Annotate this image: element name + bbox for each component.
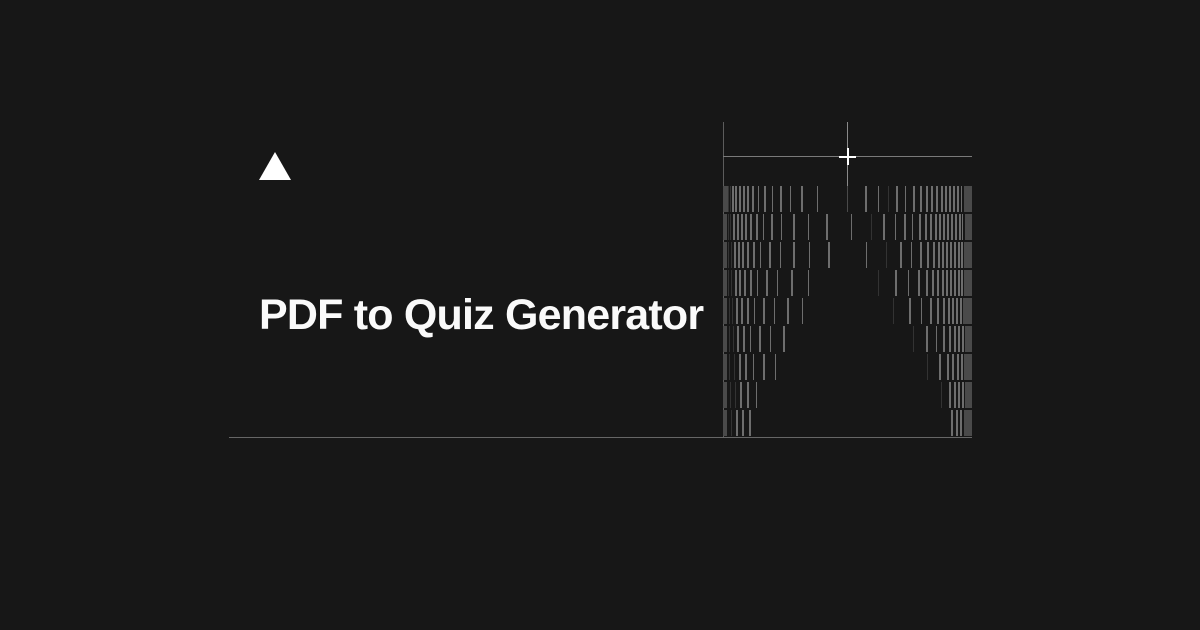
bar-segment [780, 242, 781, 268]
bar-segment [878, 270, 879, 296]
bar-segment [781, 214, 782, 240]
bar-segment [937, 270, 939, 296]
bar-segment [913, 186, 915, 212]
bar-segment [733, 214, 735, 240]
bar-segment [909, 298, 911, 324]
bar-segment [743, 186, 745, 212]
bar-segment [958, 270, 960, 296]
bar-segment [925, 214, 927, 240]
bar-segment [965, 326, 972, 352]
bar-segment [737, 214, 739, 240]
bar-segment [956, 298, 958, 324]
bar-segment [927, 354, 928, 380]
bar-segment [871, 214, 872, 240]
bar-segment [747, 298, 749, 324]
bar-segment [926, 270, 928, 296]
bar-segment [739, 186, 741, 212]
bar-segment [731, 270, 732, 296]
bar-row-stack [723, 186, 972, 437]
bar-segment [957, 354, 959, 380]
bar-segment [866, 242, 867, 268]
bar-segment [963, 298, 972, 324]
bar-segment [728, 270, 729, 296]
bar-segment [723, 214, 727, 240]
bar-segment [732, 186, 734, 212]
bar-segment [958, 326, 960, 352]
bar-segment [735, 270, 737, 296]
bar-row [723, 354, 972, 380]
bar-segment [774, 298, 775, 324]
bar-segment [730, 382, 731, 408]
bar-segment [957, 186, 959, 212]
bar-row [723, 214, 972, 240]
bar-segment [741, 214, 743, 240]
bar-segment [772, 186, 773, 212]
bar-segment [729, 298, 730, 324]
bar-segment [771, 214, 773, 240]
bar-segment [801, 186, 803, 212]
bar-segment [802, 298, 803, 324]
bar-segment [741, 298, 743, 324]
bar-segment [939, 354, 941, 380]
bar-segment [961, 242, 963, 268]
bar-segment [911, 242, 912, 268]
bar-segment [954, 270, 956, 296]
bar-segment [939, 214, 941, 240]
bar-segment [753, 354, 754, 380]
bar-segment [750, 270, 752, 296]
bar-segment [808, 214, 809, 240]
bar-segment [754, 298, 755, 324]
bar-segment [723, 242, 727, 268]
bar-segment [851, 214, 852, 240]
bar-segment [954, 242, 956, 268]
bar-segment [938, 242, 940, 268]
bar-segment [760, 242, 761, 268]
bar-segment [723, 354, 727, 380]
bar-segment [954, 326, 956, 352]
bar-segment [723, 382, 727, 408]
bar-segment [732, 298, 733, 324]
bar-segment [728, 186, 729, 212]
bar-segment [952, 298, 954, 324]
bar-segment [913, 326, 914, 352]
vercel-triangle-logo-icon [259, 152, 291, 180]
bar-segment [942, 270, 944, 296]
bar-segment [769, 242, 771, 268]
bar-segment [759, 326, 761, 352]
bar-segment [919, 214, 921, 240]
bar-segment [920, 186, 922, 212]
bar-segment [926, 186, 928, 212]
bar-segment [949, 382, 951, 408]
bar-segment [729, 326, 730, 352]
bar-segment [817, 186, 818, 212]
bar-segment [747, 186, 749, 212]
bar-segment [758, 186, 759, 212]
bar-segment [763, 298, 765, 324]
bar-segment [723, 410, 727, 436]
bar-segment [740, 382, 742, 408]
bar-segment [749, 410, 751, 436]
bar-segment [965, 382, 972, 408]
bar-segment [962, 326, 964, 352]
bar-row [723, 326, 972, 352]
bar-segment [728, 214, 729, 240]
bar-segment [750, 326, 751, 352]
bar-segment [895, 214, 896, 240]
bar-segment [736, 410, 738, 436]
bar-row [723, 242, 972, 268]
bar-segment [961, 354, 963, 380]
bar-segment [908, 270, 909, 296]
bar-segment [905, 186, 906, 212]
baseline-rule [229, 437, 972, 438]
bar-segment [756, 214, 758, 240]
bar-segment [808, 270, 809, 296]
bar-segment [900, 242, 902, 268]
bar-segment [734, 242, 736, 268]
bar-segment [951, 410, 953, 436]
bar-segment [766, 270, 768, 296]
bar-segment [932, 270, 934, 296]
bar-segment [946, 242, 948, 268]
barcode-waveform-graphic [723, 122, 972, 437]
bar-segment [943, 298, 945, 324]
crosshair-marker-icon [839, 148, 856, 165]
bar-segment [730, 186, 731, 212]
bar-segment [936, 186, 938, 212]
bar-segment [735, 382, 736, 408]
bar-segment [930, 298, 932, 324]
bar-segment [926, 326, 928, 352]
bar-row [723, 186, 972, 212]
bar-segment [826, 214, 828, 240]
bar-segment [961, 186, 962, 212]
bar-row [723, 298, 972, 324]
bar-segment [964, 354, 972, 380]
bar-segment [745, 354, 747, 380]
bar-segment [955, 214, 957, 240]
bar-segment [793, 242, 795, 268]
bar-row [723, 270, 972, 296]
bar-segment [780, 186, 782, 212]
bar-segment [809, 242, 810, 268]
bar-segment [952, 354, 954, 380]
bar-segment [960, 410, 962, 436]
bar-segment [962, 214, 963, 240]
bar-segment [948, 298, 950, 324]
bar-segment [961, 270, 963, 296]
bar-segment [723, 326, 727, 352]
bar-segment [764, 186, 766, 212]
bar-segment [723, 298, 727, 324]
bar-segment [728, 242, 729, 268]
bar-segment [933, 242, 935, 268]
bar-segment [958, 242, 960, 268]
bar-segment [945, 186, 947, 212]
bar-segment [937, 298, 939, 324]
bar-segment [954, 382, 956, 408]
bar-segment [787, 298, 789, 324]
bar-segment [743, 326, 745, 352]
bar-segment [756, 382, 757, 408]
bar-segment [750, 214, 752, 240]
bar-segment [883, 214, 885, 240]
bar-segment [828, 242, 830, 268]
page-title: PDF to Quiz Generator [259, 289, 703, 341]
bar-segment [936, 326, 937, 352]
bar-segment [865, 186, 867, 212]
bar-segment [959, 214, 961, 240]
bar-segment [744, 270, 746, 296]
bar-row [723, 382, 972, 408]
bar-segment [775, 354, 776, 380]
bar-segment [927, 242, 929, 268]
bar-segment [964, 242, 972, 268]
bar-segment [904, 214, 906, 240]
bar-segment [949, 186, 951, 212]
bar-row [723, 410, 972, 436]
bar-segment [730, 214, 731, 240]
bar-segment [941, 186, 943, 212]
bar-segment [950, 270, 952, 296]
bar-segment [960, 298, 962, 324]
bar-segment [964, 270, 972, 296]
bar-segment [918, 270, 920, 296]
bar-segment [920, 242, 922, 268]
bar-segment [965, 214, 972, 240]
bar-segment [763, 214, 764, 240]
bar-segment [941, 382, 942, 408]
bar-segment [731, 242, 732, 268]
bar-segment [930, 214, 932, 240]
bar-segment [791, 270, 793, 296]
bar-segment [738, 242, 740, 268]
bar-segment [735, 186, 737, 212]
bar-segment [736, 298, 738, 324]
bar-segment [777, 270, 778, 296]
bar-segment [747, 242, 749, 268]
bar-segment [734, 354, 735, 380]
bar-segment [912, 214, 913, 240]
og-image-card: PDF to Quiz Generator [0, 0, 1200, 630]
bar-segment [949, 326, 951, 352]
bar-segment [847, 186, 848, 212]
bar-segment [757, 270, 758, 296]
bar-segment [935, 214, 937, 240]
bar-segment [943, 326, 945, 352]
bar-segment [770, 326, 771, 352]
bar-segment [931, 186, 933, 212]
bar-segment [790, 186, 791, 212]
bar-segment [947, 354, 949, 380]
bar-segment [942, 242, 944, 268]
bar-segment [753, 242, 755, 268]
bar-segment [742, 242, 744, 268]
bar-segment [964, 410, 972, 436]
bar-segment [962, 382, 964, 408]
bar-segment [888, 186, 889, 212]
bar-segment [895, 270, 897, 296]
bar-segment [783, 326, 785, 352]
bar-segment [742, 410, 744, 436]
bar-segment [896, 186, 898, 212]
bar-segment [893, 298, 894, 324]
bar-segment [886, 242, 887, 268]
bar-segment [956, 410, 958, 436]
bar-segment [737, 326, 739, 352]
bar-segment [951, 214, 953, 240]
bar-segment [763, 354, 765, 380]
bar-segment [878, 186, 879, 212]
bar-segment [964, 186, 972, 212]
bar-segment [731, 410, 732, 436]
bar-segment [723, 270, 727, 296]
bar-segment [953, 186, 955, 212]
bar-segment [752, 186, 754, 212]
bar-segment [943, 214, 945, 240]
bar-segment [729, 354, 730, 380]
bar-segment [739, 354, 741, 380]
bar-segment [947, 214, 949, 240]
bar-segment [950, 242, 952, 268]
bar-segment [793, 214, 795, 240]
bar-segment [946, 270, 948, 296]
bar-segment [733, 326, 734, 352]
bar-segment [921, 298, 922, 324]
bar-segment [745, 214, 747, 240]
bar-segment [958, 382, 960, 408]
bar-segment [747, 382, 749, 408]
bar-segment [739, 270, 741, 296]
